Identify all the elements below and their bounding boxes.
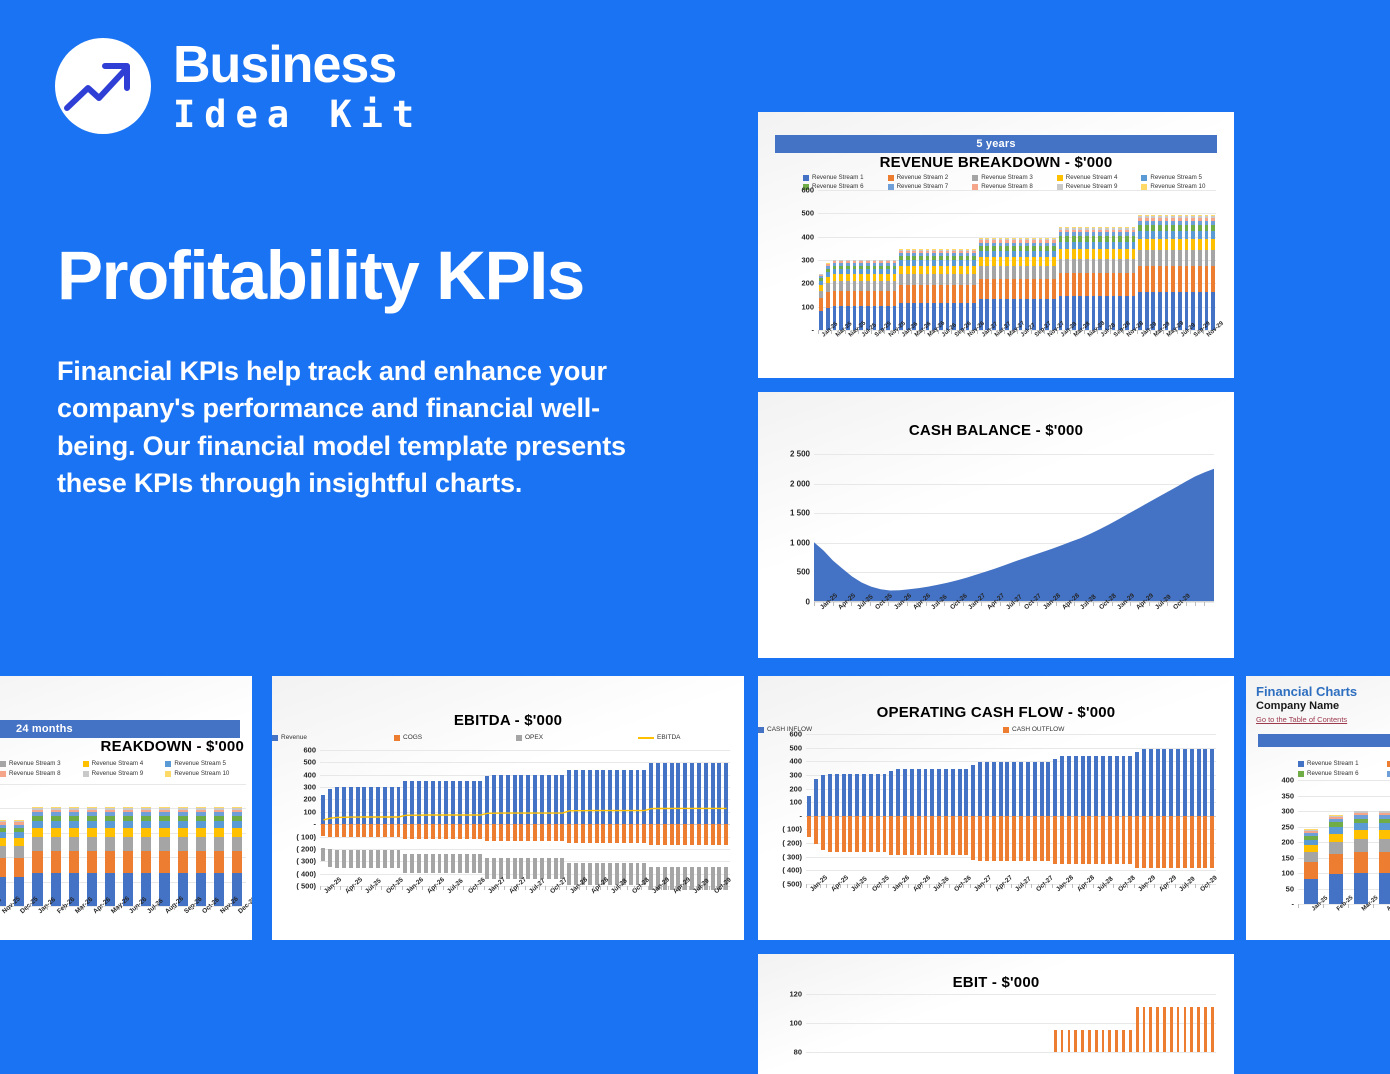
bar-segment: [1171, 239, 1175, 250]
bar-segment: [1354, 823, 1368, 830]
y-axis-label: 500: [801, 209, 818, 218]
stacked-bar: [1211, 215, 1215, 330]
stacked-bar: [972, 249, 976, 330]
bar-segment: [141, 828, 151, 837]
y-axis-label: 600: [303, 746, 320, 755]
ebitda-line: [320, 750, 730, 886]
bar-slot: [1004, 190, 1011, 330]
bar-positive: [842, 774, 846, 816]
bar-positive: [814, 779, 818, 816]
bar-negative: [1012, 816, 1016, 861]
bar-segment: [1205, 239, 1209, 250]
bar-segment: [1045, 251, 1049, 258]
bar-slot: [1104, 190, 1111, 330]
stacked-bar: [196, 807, 206, 906]
legend-swatch: [0, 761, 6, 767]
bar-slot: [1086, 994, 1093, 1052]
stacked-bar: [1092, 227, 1096, 330]
bar-segment: [886, 291, 890, 307]
bar-segment: [1379, 852, 1390, 873]
bar-segment: [51, 851, 61, 873]
bar-segment: [1178, 239, 1182, 250]
bar-slot: [881, 734, 888, 884]
stacked-bar: [1205, 215, 1209, 330]
card-financial-charts[interactable]: Financial Charts Company Name Go to the …: [1246, 676, 1390, 940]
bar-segment: [893, 281, 897, 291]
legend-swatch: [1298, 761, 1304, 767]
card-revenue-breakdown-24-months[interactable]: 24 months REAKDOWN - $'000 Revenue Strea…: [0, 676, 252, 940]
bar-negative: [876, 816, 880, 852]
bar-slot: [1117, 190, 1124, 330]
bar-segment: [196, 851, 206, 873]
legend-label: Revenue Stream 9: [1066, 183, 1118, 190]
bar-segment: [196, 837, 206, 850]
legend-label: Revenue Stream 6: [812, 183, 864, 190]
bar-positive: [924, 769, 928, 816]
table-of-contents-link[interactable]: Go to the Table of Contents: [1256, 715, 1357, 724]
bar-slot: [997, 190, 1004, 330]
bar-segment: [1379, 839, 1390, 852]
bar-negative: [1005, 816, 1009, 861]
bar-positive: [1128, 756, 1132, 816]
legend-item: CASH OUTFLOW: [1003, 726, 1234, 733]
bar: [1143, 1007, 1146, 1052]
stacked-bar: [1072, 227, 1076, 330]
bar-segment: [1354, 852, 1368, 873]
bar-slot: [1141, 734, 1148, 884]
bar-segment: [1132, 273, 1136, 296]
bar-segment: [1165, 231, 1169, 239]
card-operating-cash-flow[interactable]: OPERATING CASH FLOW - $'000 CASH INFLOWC…: [758, 676, 1234, 940]
y-axis-label: 100: [789, 798, 806, 807]
bar-segment: [1078, 273, 1082, 296]
card-ebitda[interactable]: EBITDA - $'000 RevenueCOGSOPEXEBITDA 600…: [272, 676, 744, 940]
bar-segment: [1032, 266, 1036, 278]
bar-slot: [878, 190, 885, 330]
bar-segment: [1132, 249, 1136, 259]
y-axis-label: 1 000: [790, 538, 814, 547]
bar-segment: [1098, 249, 1102, 259]
bar-slot: [813, 734, 820, 884]
bar-slot: [949, 994, 956, 1052]
bar-slot: [936, 734, 943, 884]
bar-slot: [944, 190, 951, 330]
stacked-bar: [1151, 215, 1155, 330]
card-revenue-breakdown-5-years[interactable]: 5 years REVENUE BREAKDOWN - $'000 Revenu…: [758, 112, 1234, 378]
bar-slot: [1044, 190, 1051, 330]
bar-slot: [1161, 734, 1168, 884]
legend-swatch: [888, 184, 894, 190]
bar-segment: [1354, 830, 1368, 839]
bar-segment: [879, 281, 883, 291]
bar-slot: [902, 994, 909, 1052]
legend-label: Revenue Stream 8: [9, 770, 61, 777]
bar-segment: [69, 821, 79, 828]
stacked-bar: [899, 249, 903, 330]
bar-segment: [879, 274, 883, 281]
bar-negative: [1149, 816, 1153, 869]
y-axis-label: 100: [303, 807, 320, 816]
bar-segment: [1211, 231, 1215, 239]
bar-negative: [951, 816, 955, 856]
bar: [1163, 1007, 1166, 1052]
bar-slot: [929, 734, 936, 884]
bar-segment: [979, 257, 983, 266]
bar-negative: [1122, 816, 1126, 864]
bar-segment: [1185, 239, 1189, 250]
x-ticks: [320, 886, 730, 890]
bar-negative: [964, 816, 968, 856]
bar-slot: [137, 784, 155, 906]
bar-slot: [1202, 734, 1209, 884]
bar-slot: [1004, 994, 1011, 1052]
bar-segment: [846, 281, 850, 291]
stacked-bar: [1112, 227, 1116, 330]
bar-segment: [1211, 266, 1215, 292]
bar-segment: [952, 285, 956, 303]
legend-item: Revenue Stream 1: [1298, 760, 1387, 767]
bar-segment: [1098, 259, 1102, 273]
bar-positive: [1094, 756, 1098, 816]
bar-slot: [922, 734, 929, 884]
legend-item: Revenue Stream 7: [888, 183, 973, 190]
bar-negative: [1197, 816, 1201, 869]
y-axis-label: 600: [789, 730, 806, 739]
bar-segment: [1151, 250, 1155, 265]
legend-swatch: [272, 735, 278, 741]
stacked-bar: [839, 260, 843, 330]
bar-negative: [896, 816, 900, 856]
bar-slot: [1018, 734, 1025, 884]
bar-slot: [1203, 190, 1210, 330]
bar-slot: [1134, 994, 1141, 1052]
bar-segment: [946, 266, 950, 274]
bar-segment: [32, 851, 42, 873]
bar-segment: [51, 821, 61, 828]
bar-slot: [997, 734, 1004, 884]
stacked-bar: [1329, 815, 1343, 904]
bar-segment: [959, 285, 963, 303]
legend-item: Revenue Stream 4: [83, 760, 166, 767]
bar-segment: [886, 274, 890, 281]
bar-segment: [1138, 239, 1142, 250]
bar-slot: [929, 994, 936, 1052]
stacked-bar: [1125, 227, 1129, 330]
bar-slot: [1072, 994, 1079, 1052]
bar-slot: [1154, 994, 1161, 1052]
bar-segment: [1145, 266, 1149, 292]
bar-segment: [946, 285, 950, 303]
bar-segment: [1151, 266, 1155, 292]
bar-segment: [87, 821, 97, 828]
stacked-bar: [1379, 810, 1390, 904]
bar-slot: [1004, 734, 1011, 884]
bar-positive: [1067, 756, 1071, 816]
bar-segment: [839, 291, 843, 307]
bar-segment: [1098, 273, 1102, 296]
bar-group: [818, 190, 1216, 330]
bar-slot: [1182, 994, 1189, 1052]
bar-slot: [904, 190, 911, 330]
bar-segment: [1211, 239, 1215, 250]
bar-slot: [1065, 734, 1072, 884]
cash-balance-plot: 2 5002 0001 5001 0005000Jan-25Apr-25Jul-…: [814, 454, 1214, 602]
y-axis-label: ( 100): [782, 825, 806, 834]
bar: [1184, 1007, 1187, 1052]
stacked-bar: [979, 238, 983, 330]
bar-segment: [1039, 251, 1043, 258]
bar-negative: [1190, 816, 1194, 869]
legend-item: Revenue Stream 5: [1141, 174, 1226, 181]
bar-segment: [1354, 873, 1368, 904]
bar-segment: [1198, 292, 1202, 330]
bar-segment: [1329, 874, 1343, 904]
bar-positive: [985, 762, 989, 816]
bar-positive: [944, 769, 948, 816]
bar-segment: [966, 274, 970, 285]
bar-positive: [807, 796, 811, 816]
bar-negative: [1115, 816, 1119, 864]
bar-segment: [912, 274, 916, 285]
legend-label: Revenue Stream 6: [1307, 770, 1359, 777]
card-cash-balance[interactable]: CASH BALANCE - $'000 2 5002 0001 5001 00…: [758, 392, 1234, 658]
bar-segment: [1158, 239, 1162, 250]
bar-positive: [1176, 749, 1180, 816]
bar-slot: [1157, 190, 1164, 330]
bar-segment: [1198, 266, 1202, 292]
bar-segment: [859, 281, 863, 291]
bar-negative: [814, 816, 818, 844]
bar-segment: [196, 828, 206, 837]
bar-positive: [883, 774, 887, 816]
bar-segment: [1019, 251, 1023, 258]
legend-label: Revenue Stream 8: [981, 183, 1033, 190]
x-ticks: [818, 330, 1216, 334]
bar-negative: [1210, 816, 1214, 869]
bar-slot: [1127, 734, 1134, 884]
stacked-bar: [826, 263, 830, 330]
bar-segment: [32, 828, 42, 837]
bar-slot: [1163, 190, 1170, 330]
bar-segment: [1205, 231, 1209, 239]
bar: [1061, 1030, 1064, 1052]
bar-segment: [1025, 279, 1029, 300]
financial-charts-plot: 40035030025020015010050-Jan-25Feb-25Mar-…: [1298, 780, 1390, 904]
bar-segment: [1019, 266, 1023, 278]
bar-segment: [105, 821, 115, 828]
bar-positive: [1135, 752, 1139, 816]
bar-segment: [992, 266, 996, 278]
bar-segment: [1354, 839, 1368, 852]
legend-item: OPEX: [516, 734, 622, 741]
bar-segment: [1039, 279, 1043, 300]
bar-segment: [1105, 273, 1109, 296]
stacked-bar: [1019, 238, 1023, 330]
bar: [1197, 1007, 1200, 1052]
bar-segment: [1379, 873, 1390, 904]
stacked-bar: [1118, 227, 1122, 330]
bar-positive: [835, 774, 839, 816]
stacked-bar: [141, 807, 151, 906]
bar-segment: [196, 821, 206, 828]
y-axis-label: ( 300): [296, 857, 320, 866]
stacked-bar: [1145, 215, 1149, 330]
stacked-bar: [1198, 215, 1202, 330]
bar-slot: [1097, 190, 1104, 330]
bar-segment: [839, 274, 843, 281]
bar-negative: [971, 816, 975, 860]
y-axis-label: 200: [1281, 838, 1298, 847]
bar-segment: [1072, 249, 1076, 259]
y-axis-label: 600: [801, 186, 818, 195]
bar-segment: [1092, 249, 1096, 259]
bar-positive: [1115, 756, 1119, 816]
bar-segment: [1112, 249, 1116, 259]
bar-segment: [1118, 273, 1122, 296]
x-ticks: [1298, 904, 1390, 908]
bar-slot: [1120, 734, 1127, 884]
legend-item: Revenue Stream 3: [0, 760, 83, 767]
bar-slot: [895, 994, 902, 1052]
bar-segment: [1151, 231, 1155, 239]
bar-negative: [1128, 816, 1132, 864]
bar-segment: [952, 274, 956, 285]
bar-slot: [1147, 734, 1154, 884]
stacked-bar: [952, 249, 956, 330]
bar-segment: [999, 266, 1003, 278]
bar-slot: [1038, 994, 1045, 1052]
bar-segment: [1078, 242, 1082, 249]
bar-slot: [1106, 994, 1113, 1052]
bar-slot: [915, 734, 922, 884]
bar-segment: [859, 274, 863, 281]
bar-segment: [919, 266, 923, 274]
bar-segment: [1012, 279, 1016, 300]
bar-slot: [1298, 780, 1323, 904]
bar-segment: [0, 838, 6, 846]
legend-swatch: [1003, 727, 1009, 733]
y-axis-label: 500: [303, 758, 320, 767]
bar-slot: [1373, 780, 1390, 904]
bar-positive: [828, 774, 832, 816]
bar-slot: [840, 994, 847, 1052]
y-axis-label: ( 200): [782, 839, 806, 848]
bar-slot: [820, 734, 827, 884]
bar-positive: [1012, 762, 1016, 816]
stacked-bar: [1191, 215, 1195, 330]
bar-segment: [214, 828, 224, 837]
bar-segment: [1065, 249, 1069, 259]
bar-slot: [858, 190, 865, 330]
bar-slot: [867, 994, 874, 1052]
bar-segment: [232, 821, 242, 828]
stacked-bar: [985, 238, 989, 330]
bar: [1102, 1030, 1105, 1052]
bar-group: [806, 734, 1216, 884]
bar-negative: [930, 816, 934, 856]
stacked-bar: [959, 249, 963, 330]
financial-charts-band: [1258, 734, 1390, 747]
card-ebit[interactable]: EBIT - $'000 12010080: [758, 954, 1234, 1074]
bar-negative: [889, 816, 893, 855]
bar-slot: [931, 190, 938, 330]
bar-slot: [1113, 994, 1120, 1052]
bar-positive: [937, 769, 941, 816]
bar-segment: [87, 851, 97, 873]
bar-negative: [958, 816, 962, 856]
bar-segment: [819, 298, 823, 311]
bar-segment: [912, 285, 916, 303]
y-axis-label: 350: [1281, 791, 1298, 800]
bar-positive: [1060, 756, 1064, 816]
bar-segment: [1072, 259, 1076, 273]
stacked-bar: [32, 807, 42, 906]
legend-label: Revenue Stream 5: [1150, 174, 1202, 181]
bar-slot: [874, 734, 881, 884]
legend-swatch: [888, 175, 894, 181]
x-axis: Jan-25Apr-25Jul-25Oct-25Jan-26Apr-26Jul-…: [806, 884, 1216, 930]
bar-slot: [1197, 190, 1204, 330]
bar-segment: [972, 274, 976, 285]
bar-positive: [930, 769, 934, 816]
bar-slot: [826, 734, 833, 884]
bar-negative: [1135, 816, 1139, 868]
bar-segment: [1059, 259, 1063, 273]
bar-segment: [1052, 266, 1056, 278]
bar-slot: [833, 994, 840, 1052]
bar-segment: [1025, 251, 1029, 258]
x-axis: Jan-25Feb-25Mar-25Apr-25May-25Jun-25: [1298, 904, 1390, 940]
bar-segment: [859, 291, 863, 307]
bar-segment: [1198, 239, 1202, 250]
bar-segment: [899, 285, 903, 303]
bar-segment: [1158, 231, 1162, 239]
y-axis-label: 250: [1281, 822, 1298, 831]
stacked-bar: [966, 249, 970, 330]
legend-swatch: [972, 184, 978, 190]
bar-slot: [1137, 190, 1144, 330]
bar-slot: [1147, 994, 1154, 1052]
y-axis-label: ( 200): [296, 844, 320, 853]
financial-charts-legend: Revenue Stream 1Revenue Stream 2Revenue …: [1298, 760, 1390, 777]
bar-segment: [1198, 231, 1202, 239]
bar-negative: [1087, 816, 1091, 864]
bar-slot: [820, 994, 827, 1052]
bar: [1156, 1007, 1159, 1052]
bar-positive: [1053, 759, 1057, 816]
bar-segment: [1112, 242, 1116, 249]
bar-segment: [826, 283, 830, 292]
logo-badge: [55, 38, 151, 134]
bar-segment: [899, 266, 903, 274]
bar-positive: [1156, 749, 1160, 816]
bar-segment: [1065, 259, 1069, 273]
bar-slot: [1077, 190, 1084, 330]
bar-segment: [51, 828, 61, 837]
bar-segment: [178, 821, 188, 828]
bar-positive: [1087, 756, 1091, 816]
stacked-bar: [1132, 227, 1136, 330]
bar-segment: [826, 292, 830, 307]
bar: [1108, 1030, 1111, 1052]
legend-item: Revenue Stream 8: [972, 183, 1057, 190]
bar-slot: [895, 734, 902, 884]
bar-segment: [819, 311, 823, 330]
bar: [1074, 1030, 1077, 1052]
bar-segment: [1118, 259, 1122, 273]
bar-segment: [1304, 845, 1318, 852]
bar-positive: [951, 769, 955, 816]
